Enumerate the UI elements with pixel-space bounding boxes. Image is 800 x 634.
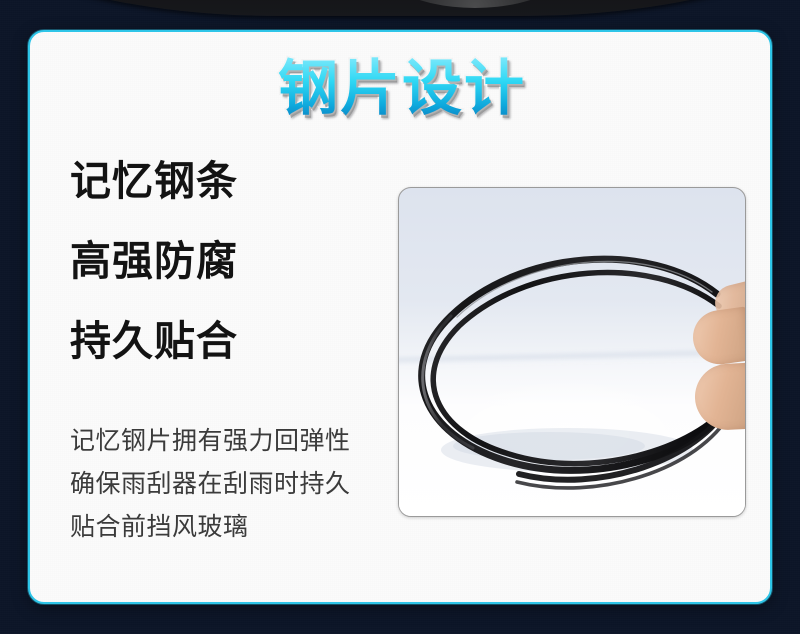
page-title: 钢片设计 [30,56,772,122]
feature-headline-2: 高强防腐 [70,240,400,283]
feature-headline-list: 记忆钢条 高强防腐 持久贴合 [70,160,400,363]
feature-headline-3: 持久贴合 [70,320,400,363]
feature-description-line-1: 记忆钢片拥有强力回弹性 [70,420,410,463]
product-photo [398,187,746,517]
steel-strip-illustration [399,188,746,517]
feature-description-line-3: 贴合前挡风玻璃 [70,506,410,549]
feature-description: 记忆钢片拥有强力回弹性 确保雨刮器在刮雨时持久 贴合前挡风玻璃 [70,420,410,549]
feature-headline-1: 记忆钢条 [70,160,400,203]
feature-description-line-2: 确保雨刮器在刮雨时持久 [70,463,410,506]
feature-card: 钢片设计 钢片设计 记忆钢条 高强防腐 持久贴合 记忆钢片拥有强力回弹性 确保雨… [28,30,772,604]
